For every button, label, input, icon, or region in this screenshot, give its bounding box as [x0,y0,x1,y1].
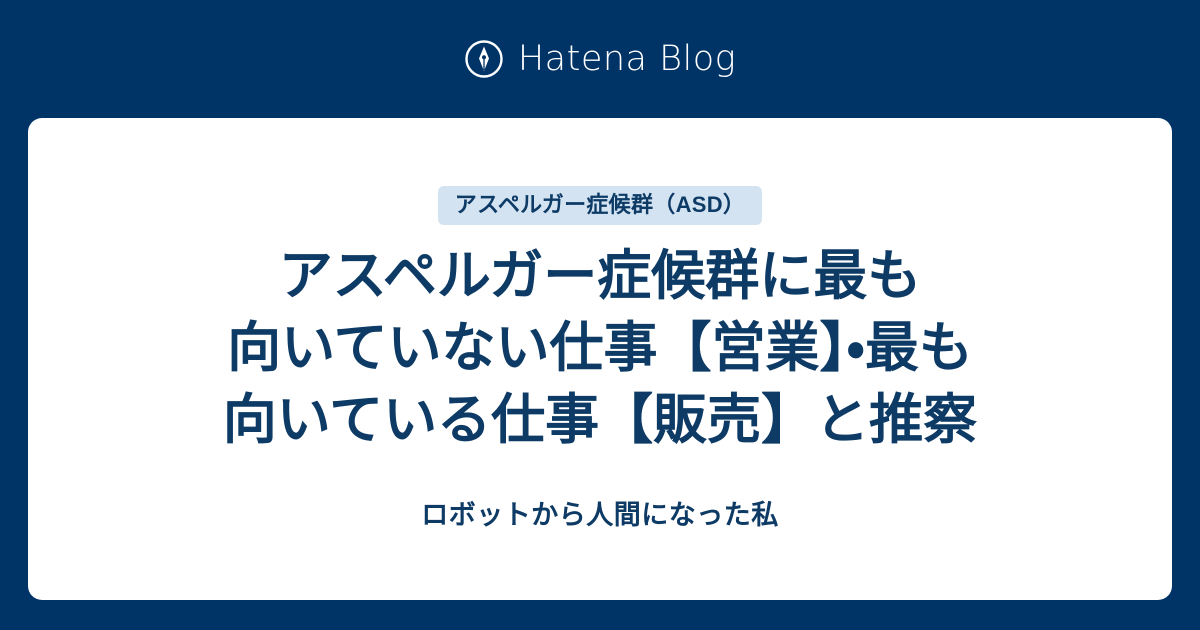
entry-title-line: 向いている仕事【販売】と推察 [150,385,1050,457]
entry-title-line: 向いていない仕事【営業】・最も [150,313,1050,385]
entry-title: アスペルガー症候群に最も 向いていない仕事【営業】・最も 向いている仕事【販売】… [150,241,1050,456]
ogp-card-root: Hatena Blog アスペルガー症候群（ASD） アスペルガー症候群に最も … [0,0,1200,630]
hatena-blog-logo [464,39,504,79]
brand-header: Hatena Blog [0,0,1200,118]
entry-card: アスペルガー症候群（ASD） アスペルガー症候群に最も 向いていない仕事【営業】… [28,118,1172,600]
fountain-pen-nib-circle-icon [464,39,504,79]
hatena-blog-wordmark: Hatena Blog [518,42,736,77]
blog-name[interactable]: ロボットから人間になった私 [421,502,779,529]
category-badge[interactable]: アスペルガー症候群（ASD） [438,186,762,225]
entry-title-line: アスペルガー症候群に最も [150,241,1050,313]
